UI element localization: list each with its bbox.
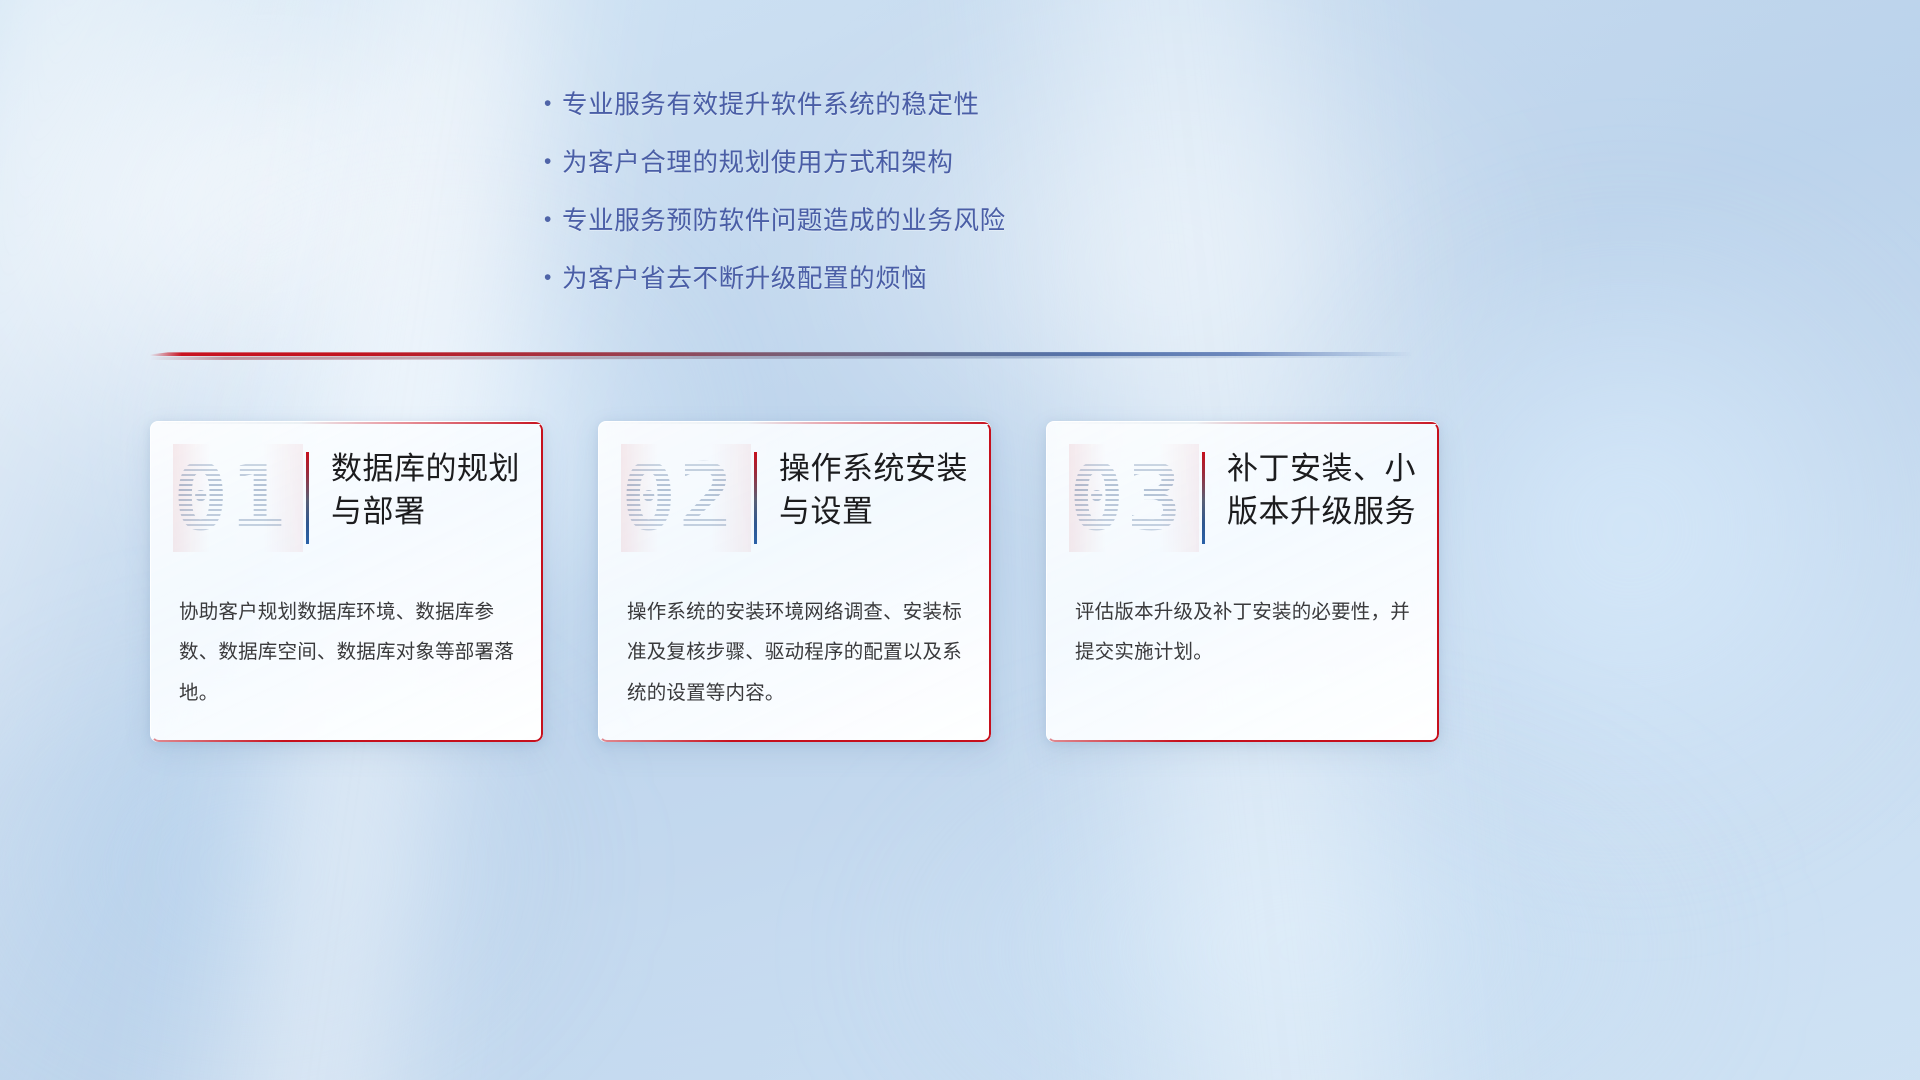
card-number-wrap: 01 — [173, 444, 303, 552]
bullet-dot-icon: • — [536, 267, 562, 288]
bullet-text: 为客户合理的规划使用方式和架构 — [562, 148, 954, 180]
card-number: 02 — [621, 444, 751, 552]
slide-content: • 专业服务有效提升软件系统的稳定性 • 为客户合理的规划使用方式和架构 • 专… — [0, 0, 1920, 1080]
bullet-text: 专业服务有效提升软件系统的稳定性 — [562, 90, 980, 122]
card-description: 操作系统的安装环境网络调查、安装标准及复核步骤、驱动程序的配置以及系统的设置等内… — [627, 592, 971, 713]
card-title: 数据库的规划与部署 — [331, 448, 529, 534]
card-header: 03 补丁安装、小版本升级服务 — [1047, 422, 1439, 570]
card-number-wrap: 03 — [1069, 444, 1199, 552]
benefits-bullet-list: • 专业服务有效提升软件系统的稳定性 • 为客户合理的规划使用方式和架构 • 专… — [536, 90, 1296, 322]
card-title: 操作系统安装与设置 — [779, 448, 977, 534]
card-divider-bar — [754, 452, 757, 544]
section-divider — [150, 352, 1412, 361]
service-card-03[interactable]: 03 补丁安装、小版本升级服务 评估版本升级及补丁安装的必要性，并提交实施计划。 — [1046, 421, 1439, 742]
list-item: • 专业服务预防软件问题造成的业务风险 — [536, 206, 1296, 238]
list-item: • 专业服务有效提升软件系统的稳定性 — [536, 90, 1296, 122]
bullet-text: 专业服务预防软件问题造成的业务风险 — [562, 206, 1006, 238]
card-title: 补丁安装、小版本升级服务 — [1227, 448, 1425, 534]
card-description: 评估版本升级及补丁安装的必要性，并提交实施计划。 — [1075, 592, 1419, 673]
card-header: 01 数据库的规划与部署 — [151, 422, 543, 570]
card-header: 02 操作系统安装与设置 — [599, 422, 991, 570]
card-number-wrap: 02 — [621, 444, 751, 552]
service-card-group: 01 数据库的规划与部署 协助客户规划数据库环境、数据库参数、数据库空间、数据库… — [150, 421, 1450, 742]
list-item: • 为客户合理的规划使用方式和架构 — [536, 148, 1296, 180]
bullet-dot-icon: • — [536, 93, 562, 114]
bullet-text: 为客户省去不断升级配置的烦恼 — [562, 264, 927, 296]
card-description: 协助客户规划数据库环境、数据库参数、数据库空间、数据库对象等部署落地。 — [179, 592, 523, 713]
bullet-dot-icon: • — [536, 209, 562, 230]
list-item: • 为客户省去不断升级配置的烦恼 — [536, 264, 1296, 296]
card-divider-bar — [1202, 452, 1205, 544]
service-card-01[interactable]: 01 数据库的规划与部署 协助客户规划数据库环境、数据库参数、数据库空间、数据库… — [150, 421, 543, 742]
card-divider-bar — [306, 452, 309, 544]
card-number: 01 — [173, 444, 303, 552]
card-number: 03 — [1069, 444, 1199, 552]
service-card-02[interactable]: 02 操作系统安装与设置 操作系统的安装环境网络调查、安装标准及复核步骤、驱动程… — [598, 421, 991, 742]
bullet-dot-icon: • — [536, 151, 562, 172]
